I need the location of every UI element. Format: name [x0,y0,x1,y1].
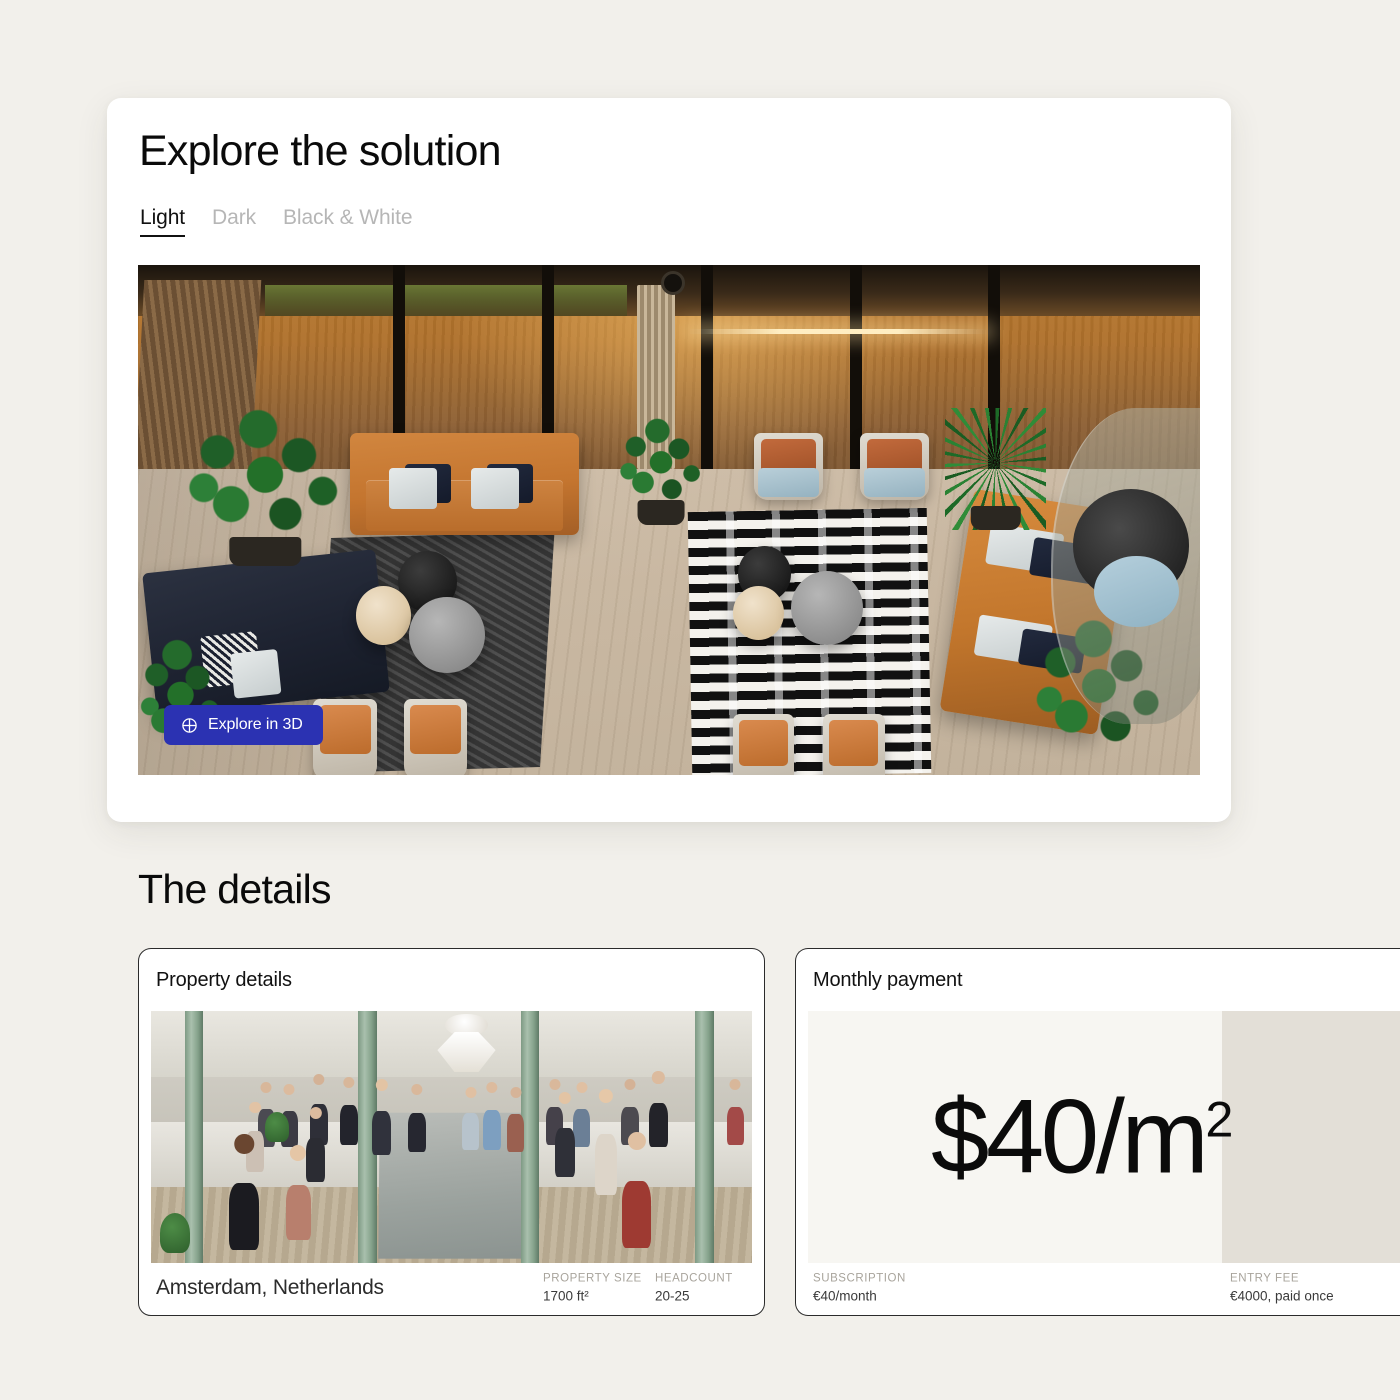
tan-leather-sofa [350,433,578,535]
chair-seat [739,720,788,766]
tab-black-and-white[interactable]: Black & White [283,207,412,237]
studio-person [370,1079,393,1155]
striped-rug [688,508,932,775]
studio-person [725,1079,745,1145]
grey-round-table [409,597,485,674]
wall-clock [661,271,685,295]
page-title: Explore the solution [139,128,501,175]
headcount-label: HEADCOUNT [655,1273,733,1285]
chair-seat-cushion [758,468,819,497]
ceiling-glass-panel [265,285,626,316]
potted-plant [616,413,706,525]
hero-photo: Explore in 3D [138,265,1200,775]
pendant-lamp [433,1014,499,1080]
chair-seat-cushion [864,468,925,497]
property-size-meta: PROPERTY SIZE 1700 ft² [543,1273,642,1304]
studio-person [406,1084,427,1152]
wooden-chair [404,699,468,776]
globe-crosshair-icon [181,717,198,734]
white-pillow [389,468,437,509]
explore-in-3d-button[interactable]: Explore in 3D [164,705,323,745]
property-card-heading: Property details [139,949,764,1011]
studio-person [506,1087,526,1153]
price-panel: $40/m2 [808,1011,1400,1263]
led-light-strip [690,329,987,334]
desk-plant [265,1112,289,1142]
entry-fee-label: ENTRY FEE [1230,1273,1334,1285]
studio-person [461,1087,481,1150]
wooden-chair [823,714,885,775]
studio-person [283,1145,313,1241]
headcount-meta: HEADCOUNT 20-25 [655,1273,733,1304]
property-details-card: Property details [138,948,765,1316]
green-column [695,1011,714,1263]
studio-person [339,1077,360,1145]
wooden-chair [733,714,795,775]
property-footer: Amsterdam, Netherlands PROPERTY SIZE 170… [139,1261,764,1315]
monstera-plant [180,403,350,566]
white-pillow [230,648,281,698]
details-section-title: The details [138,866,331,913]
plant-foliage [138,632,223,775]
lounge-scene [138,265,1200,775]
wooden-chair [313,699,377,776]
floor-plant [160,1213,190,1253]
price-display: $40/m2 [808,1085,1400,1190]
plant-pot [230,537,301,566]
property-size-value: 1700 ft² [543,1289,642,1304]
tab-dark[interactable]: Dark [212,207,256,237]
chair-seat [320,705,371,754]
studio-person [620,1132,654,1248]
property-photo [151,1011,752,1263]
tab-light[interactable]: Light [140,207,185,237]
payment-card-heading: Monthly payment [796,949,1400,1011]
chair-seat [829,720,878,766]
lounge-chair [860,433,929,499]
price-exponent: 2 [1205,1091,1232,1148]
subscription-label: SUBSCRIPTION [813,1273,906,1285]
studio-person [554,1092,577,1178]
entry-fee-value: €4000, paid once [1230,1289,1334,1304]
hero-card: Explore the solution Light Dark Black & … [107,98,1231,822]
studio-person [226,1134,262,1250]
grey-round-table [791,571,863,645]
subscription-value: €40/month [813,1289,906,1304]
property-location: Amsterdam, Netherlands [156,1276,384,1300]
wood-round-table [733,586,784,640]
monthly-payment-card: Monthly payment $40/m2 SUBSCRIPTION €40/… [795,948,1400,1316]
white-pillow [471,468,519,509]
leafy-shrub [138,632,223,775]
theme-tabs: Light Dark Black & White [140,207,412,237]
spiky-palm-plant [945,408,1046,530]
studio-person [593,1089,619,1195]
plant-pot [638,500,685,525]
explore-button-label: Explore in 3D [208,716,303,734]
plant-pot [970,506,1020,530]
wood-round-table [356,586,411,645]
lamp-shade [437,1032,495,1073]
lounge-chair [754,433,823,499]
entry-fee-meta: ENTRY FEE €4000, paid once [1230,1273,1334,1304]
payment-footer: SUBSCRIPTION €40/month ENTRY FEE €4000, … [796,1261,1400,1315]
subscription-meta: SUBSCRIPTION €40/month [813,1273,906,1304]
chair-seat [410,705,461,754]
price-amount: $40/m [931,1079,1205,1196]
headcount-value: 20-25 [655,1289,733,1304]
property-size-label: PROPERTY SIZE [543,1273,642,1285]
studio-person [647,1071,670,1147]
pod-chair [1094,556,1179,627]
studio-person [482,1082,503,1150]
